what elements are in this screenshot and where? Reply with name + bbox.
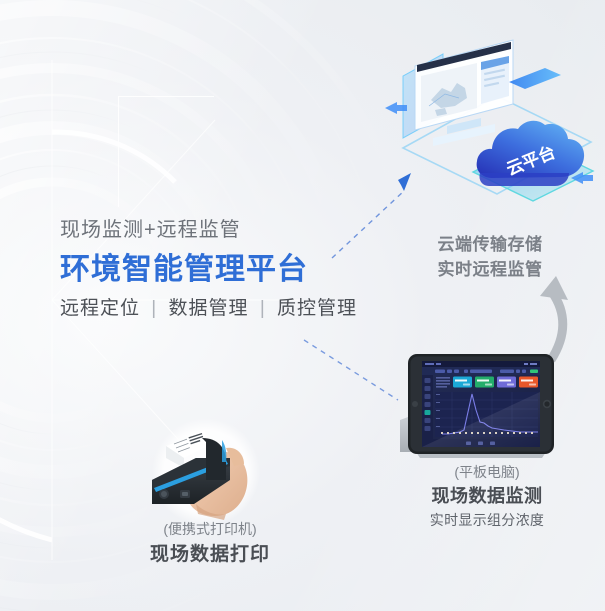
cloud-platform-illustration: 云平台 [385, 38, 605, 203]
curved-arrow-up [540, 276, 568, 360]
headline-eyebrow: 现场监测+远程监管 [60, 216, 380, 244]
cloud-caption: 云端传输存储 实时远程监管 [410, 232, 570, 282]
tag-separator-1: | [146, 298, 162, 319]
printer-caption-title: 现场数据打印 [90, 540, 330, 570]
promo-infographic: 云平台 现场监测+远程监管 环境智能管理平台 远程定位 | [0, 0, 605, 611]
tablet-caption: (平板电脑) 现场数据监测 实时显示组分浓度 [392, 462, 582, 531]
cloud-caption-line2: 实时远程监管 [410, 257, 570, 282]
tag-separator-2: | [255, 298, 271, 319]
tablet-caption-paren: (平板电脑) [392, 462, 582, 483]
monitor-dashboard-icon [415, 40, 513, 146]
headline-tags: 远程定位 | 数据管理 | 质控管理 [60, 294, 380, 324]
tag-data-management: 数据管理 [169, 298, 249, 319]
printer-caption-paren: (便携式打印机) [90, 518, 330, 540]
page-title: 环境智能管理平台 [60, 248, 380, 292]
dashed-arrow-down-right [304, 340, 398, 400]
headline-block: 现场监测+远程监管 环境智能管理平台 远程定位 | 数据管理 | 质控管理 [60, 216, 380, 324]
tablet-caption-title: 现场数据监测 [392, 483, 582, 509]
printer-illustration [138, 418, 274, 526]
tag-quality-control: 质控管理 [277, 298, 357, 319]
tablet-caption-subtitle: 实时显示组分浓度 [392, 509, 582, 531]
tag-remote-positioning: 远程定位 [60, 298, 140, 319]
tablet-illustration [392, 352, 564, 460]
printer-caption: (便携式打印机) 现场数据打印 [90, 518, 330, 570]
cloud-caption-line1: 云端传输存储 [410, 232, 570, 257]
corner-frame-decoration [118, 96, 214, 207]
tablet-screen-ui [422, 361, 540, 447]
